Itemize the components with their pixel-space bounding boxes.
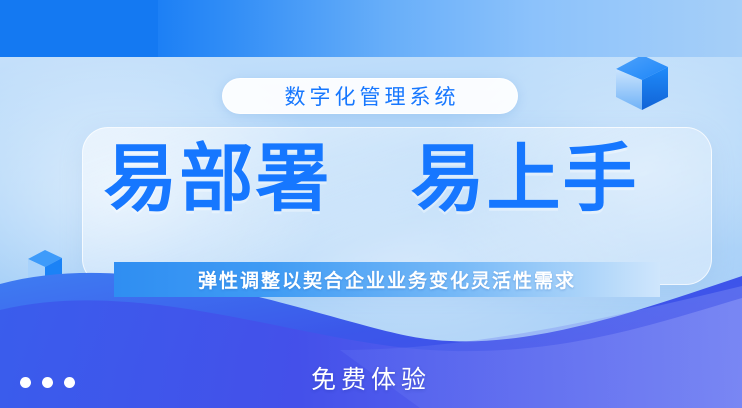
carousel-dot-1[interactable] <box>20 377 31 388</box>
hero-tagline-band: 弹性调整以契合企业业务变化灵活性需求 <box>114 262 660 297</box>
hero-headline-left: 易部署 <box>103 137 331 220</box>
header-logo-backdrop <box>0 0 158 57</box>
hero-tagline-text: 弹性调整以契合企业业务变化灵活性需求 <box>198 266 576 293</box>
system-name-pill: 数字化管理系统 <box>222 78 518 114</box>
carousel-dot-3[interactable] <box>64 377 75 388</box>
promo-banner: 助流 数字化解决方案服务商 数字化管理系统 易部署 易上手 弹性调整以契合企业业… <box>0 0 742 408</box>
free-trial-cta[interactable]: 免费体验 <box>0 360 742 396</box>
header-bar <box>0 0 742 57</box>
carousel-dot-2[interactable] <box>42 377 53 388</box>
carousel-dots[interactable] <box>20 377 75 388</box>
cube-top-right-icon <box>614 53 670 113</box>
system-name-pill-label: 数字化管理系统 <box>281 81 460 111</box>
hero-headline-right: 易上手 <box>411 137 639 220</box>
hero-headline: 易部署 易上手 <box>0 142 742 216</box>
